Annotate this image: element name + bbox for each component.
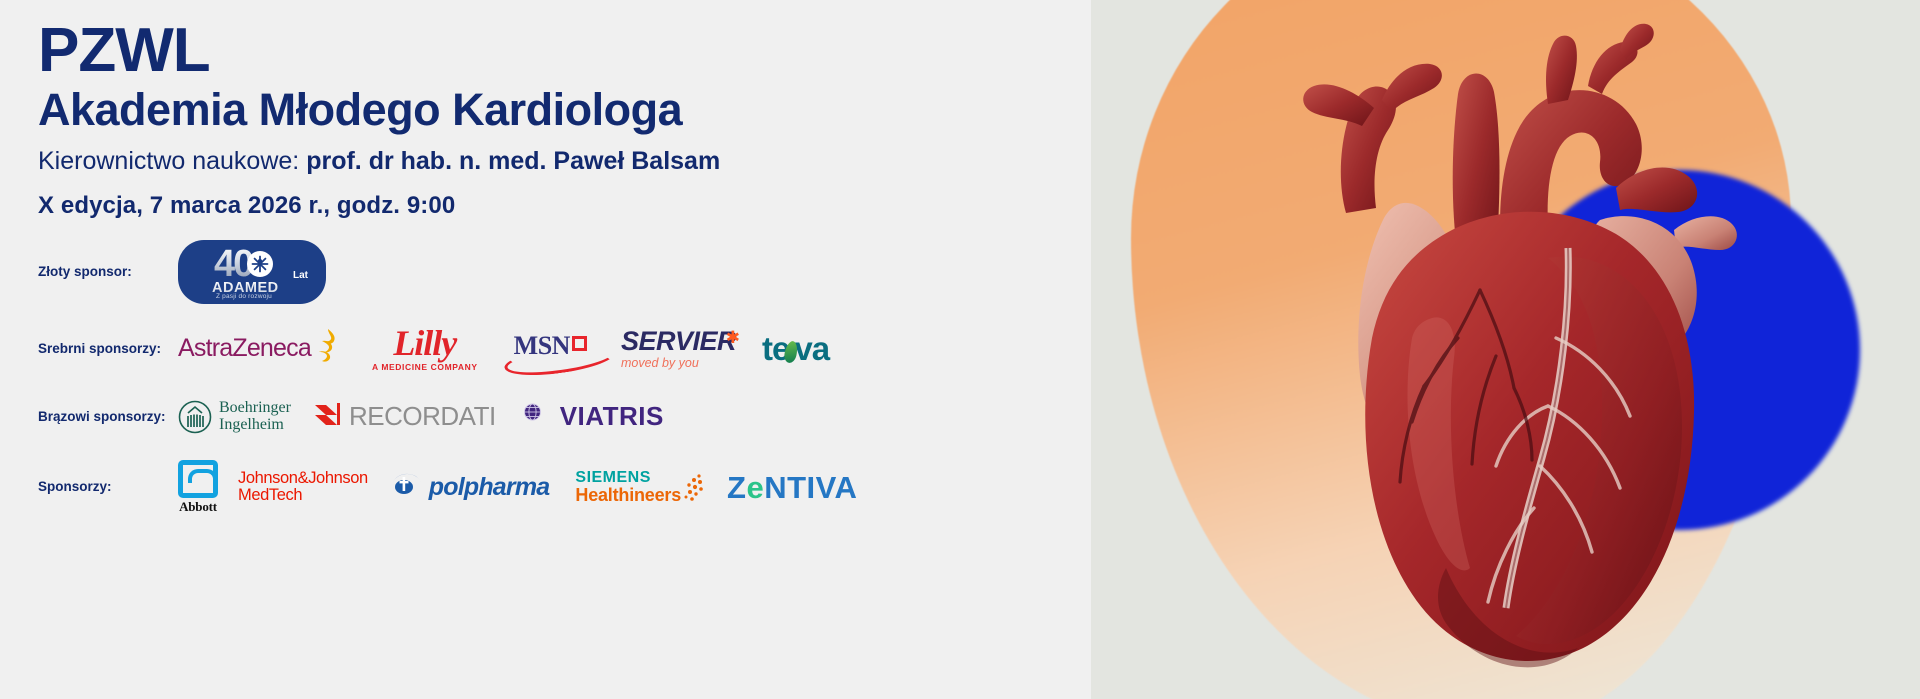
boehringer-wordmark: Boehringer Ingelheim [219,400,291,434]
scientific-lead-prefix: Kierownictwo naukowe: [38,147,306,175]
sponsor-row-bronze: Brązowi sponsorzy: [38,392,1091,442]
servier-wordmark: SERVIER [621,328,736,355]
scientific-lead-line: Kierownictwo naukowe: prof. dr hab. n. m… [38,145,1091,178]
sponsor-logos-gold: 40 [178,240,326,304]
polpharma-wordmark: polpharma [429,473,550,502]
brand-title: PZWL [38,18,1091,83]
servier-logo[interactable]: SERVIER moved by you ✱ [621,328,736,370]
siemens-line2: Healthineers [575,486,681,506]
banner-artwork-panel [1091,0,1920,699]
lilly-tagline: A MEDICINE COMPANY [372,362,478,372]
siemens-dots-icon [683,473,705,512]
scientific-lead-person: prof. dr hab. n. med. Paweł Balsam [306,147,720,175]
lilly-wordmark: Lilly [372,326,478,360]
recordati-logo[interactable]: RECORDATI [313,400,496,433]
sponsor-row-silver: Srebrni sponsorzy: AstraZeneca [38,324,1091,374]
heart-illustration [1091,0,1920,699]
viatris-wordmark: VIATRIS [560,401,664,432]
adamed-lat-label: Lat [293,270,308,281]
adamed-snowflake-icon [247,251,273,277]
zentiva-wordmark-rest: NTIVA [764,470,857,505]
adamed-logo[interactable]: 40 [178,240,326,304]
jnj-line1: Johnson&Johnson [238,470,368,487]
viatris-globe-icon [518,397,552,436]
abbott-logo[interactable]: Abbott [178,460,218,515]
polpharma-logo[interactable]: polpharma [390,470,550,505]
astrazeneca-logo[interactable]: AstraZeneca [178,328,342,369]
event-banner: PZWL Akademia Młodego Kardiologa Kierown… [0,0,1920,699]
astrazeneca-mark-icon [312,328,342,369]
event-date-line: X edycja, 7 marca 2026 r., godz. 9:00 [38,192,1091,220]
servier-star-icon: ✱ [726,329,740,346]
lilly-logo[interactable]: Lilly A MEDICINE COMPANY [372,326,478,372]
sponsor-logos-bronze: Boehringer Ingelheim [178,397,664,436]
recordati-mark-icon [313,400,343,433]
teva-logo[interactable]: teva [762,332,829,365]
abbott-wordmark: Abbott [178,499,218,515]
astrazeneca-wordmark: AstraZeneca [178,334,311,363]
polpharma-mark-icon [390,470,424,505]
servier-tagline: moved by you [621,356,736,370]
sponsor-label-gold: Złoty sponsor: [38,264,178,280]
sponsor-label-basic: Sponsorzy: [38,479,178,495]
abbott-mark-icon [178,460,218,498]
siemens-line1: SIEMENS [575,469,681,487]
sponsor-logos-silver: AstraZeneca Lilly A MEDICINE COMPAN [178,326,829,372]
siemens-healthineers-logo[interactable]: SIEMENS Healthineers [575,469,705,506]
sponsor-row-basic: Sponsorzy: Abbott Johnson&Johnson MedTec… [38,460,1091,515]
boehringer-line1: Boehringer [219,399,291,416]
anatomical-heart-icon [1196,8,1816,698]
recordati-wordmark: RECORDATI [349,401,496,432]
event-title: Akademia Młodego Kardiologa [38,85,1091,135]
sponsors-section: Złoty sponsor: 40 [38,240,1091,515]
boehringer-ingelheim-logo[interactable]: Boehringer Ingelheim [178,400,291,434]
msn-logo[interactable]: MSN [504,327,593,371]
boehringer-line2: Ingelheim [219,416,284,433]
sponsor-logos-basic: Abbott Johnson&Johnson MedTech [178,460,857,515]
zentiva-letter-e: e [746,470,764,505]
johnson-and-johnson-medtech-logo[interactable]: Johnson&Johnson MedTech [238,470,368,505]
teva-wordmark: teva [762,330,829,367]
banner-content-panel: PZWL Akademia Młodego Kardiologa Kierown… [0,0,1091,699]
sponsor-row-gold: Złoty sponsor: 40 [38,240,1091,304]
sponsor-label-silver: Srebrni sponsorzy: [38,341,178,357]
jnj-line2: MedTech [238,487,368,504]
viatris-logo[interactable]: VIATRIS [518,397,664,436]
adamed-tagline: Z pasji do rozwoju [216,293,272,300]
zentiva-letter-z: Z [727,470,746,505]
zentiva-logo[interactable]: ZeNTIVA [727,472,857,503]
boehringer-temple-icon [178,400,212,434]
sponsor-label-bronze: Brązowi sponsorzy: [38,409,178,425]
